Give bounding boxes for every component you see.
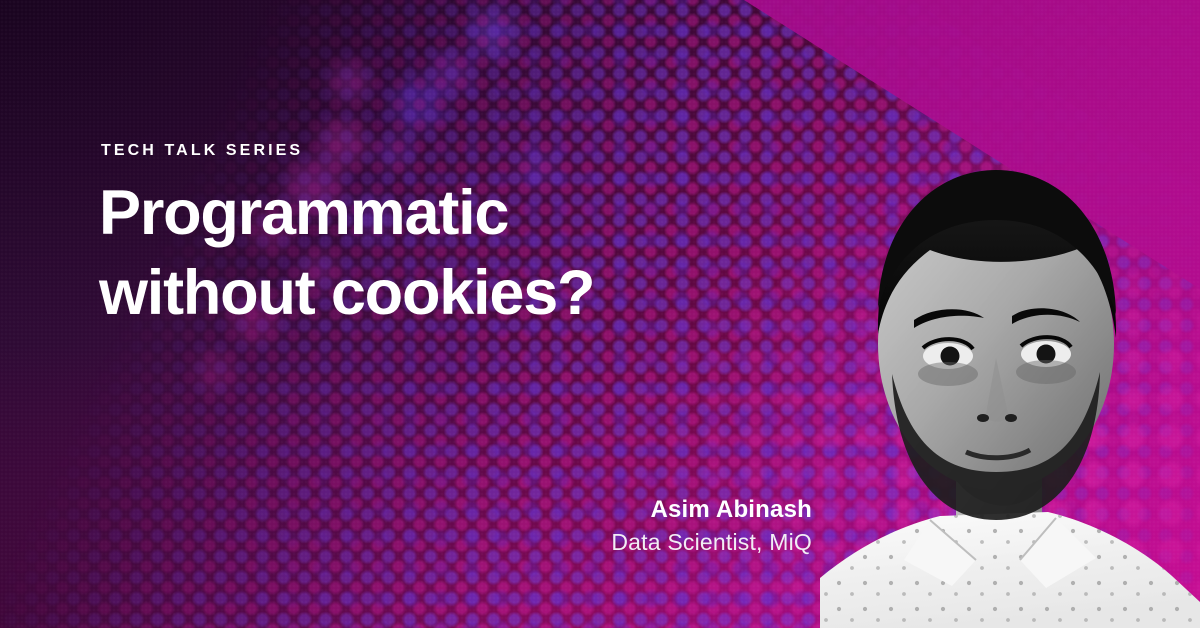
tech-talk-banner: TECH TALK SERIES Programmatic without co… bbox=[0, 0, 1200, 628]
speaker-info: Asim Abinash Data Scientist, MiQ bbox=[440, 498, 812, 554]
speaker-portrait bbox=[780, 108, 1200, 628]
eyebrow-label: TECH TALK SERIES bbox=[101, 143, 303, 159]
speaker-role: Data Scientist, MiQ bbox=[440, 531, 812, 554]
speaker-name: Asim Abinash bbox=[440, 498, 812, 522]
page-title: Programmatic without cookies? bbox=[99, 173, 594, 333]
